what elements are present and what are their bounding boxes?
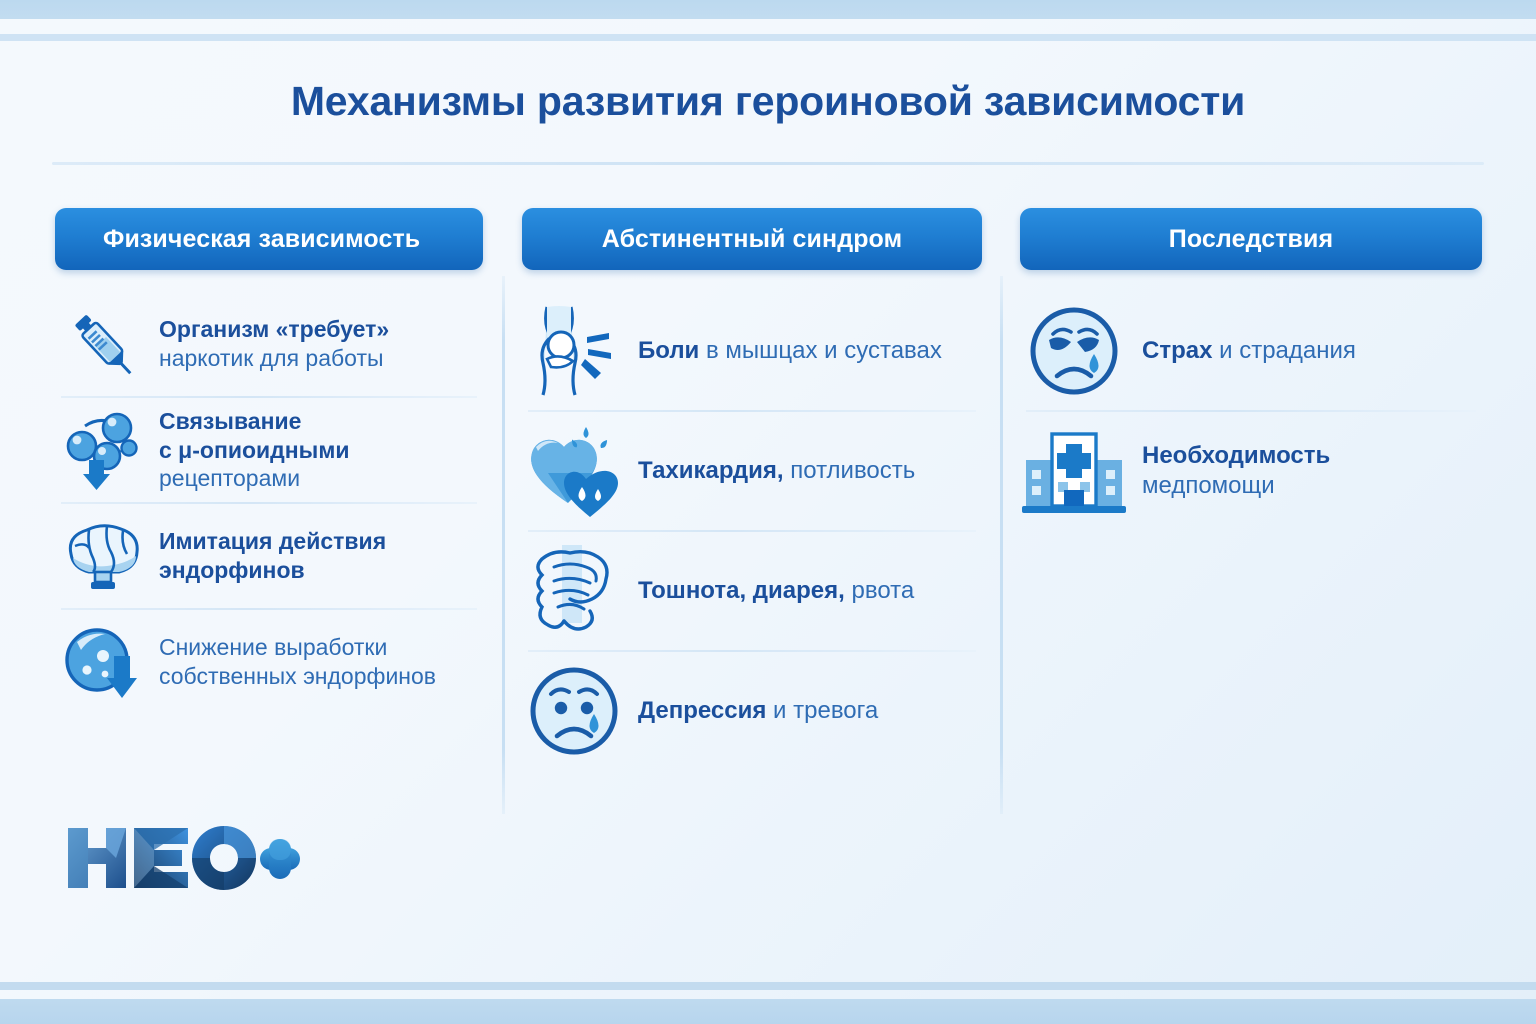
item-line: Тошнота, диарея,: [638, 577, 845, 604]
list-item-text: Тахикардия, потливость: [638, 456, 915, 486]
list-item-text: Страх и страдания: [1142, 336, 1356, 366]
column-separator-2: [1000, 276, 1003, 814]
item-line: собственных эндорфинов: [159, 663, 436, 689]
item-line: эндорфинов: [159, 557, 305, 583]
list-item[interactable]: Депрессия и тревога: [522, 652, 982, 770]
column-header-consequences[interactable]: Последствия: [1020, 208, 1482, 270]
list-item-text: Организм «требует» наркотик для работы: [159, 315, 389, 372]
item-line: Организм «требует»: [159, 316, 389, 342]
item-line: Связывание: [159, 408, 301, 434]
syringe-icon: [55, 298, 151, 390]
list-item[interactable]: Тошнота, диарея, рвота: [522, 532, 982, 650]
joint-pain-icon: [522, 301, 626, 401]
item-line-suffix: потливость: [784, 457, 916, 484]
list-item-text: Боли в мышцах и суставах: [638, 336, 942, 366]
item-line: Тахикардия,: [638, 457, 784, 484]
hospital-icon: [1020, 421, 1128, 521]
item-line: наркотик для работы: [159, 345, 384, 371]
list-item-text: Тошнота, диарея, рвота: [638, 576, 914, 606]
item-line: Страх: [1142, 337, 1212, 364]
bottom-decorative-band: [0, 999, 1536, 1024]
intestines-icon: [522, 541, 626, 641]
list-item-text: Имитация действия эндорфинов: [159, 527, 386, 584]
brain-icon: [55, 510, 151, 602]
items-list-withdrawal: Боли в мышцах и суставах: [522, 292, 982, 770]
item-line: рецепторами: [159, 465, 300, 491]
item-line: Депрессия: [638, 697, 766, 724]
column-header-label: Абстинентный синдром: [602, 225, 902, 254]
list-item-text: Депрессия и тревога: [638, 696, 878, 726]
item-line-suffix: рвота: [845, 577, 914, 604]
column-physical-dependence: Физическая зависимость: [55, 208, 483, 714]
items-list-physical: Организм «требует» наркотик для работы: [55, 292, 483, 714]
item-line: с μ-опиоидными: [159, 437, 349, 463]
columns-container: Физическая зависимость: [0, 208, 1536, 828]
list-item[interactable]: Тахикардия, потливость: [522, 412, 982, 530]
title-divider: [52, 162, 1484, 165]
heart-sweat-icon: [522, 421, 626, 521]
top-accent-line: [0, 34, 1536, 41]
column-consequences: Последствия: [1020, 208, 1482, 530]
item-line-suffix: в мышцах и суставах: [699, 337, 942, 364]
item-line-suffix: и тревога: [766, 697, 878, 724]
list-item[interactable]: Имитация действия эндорфинов: [55, 504, 483, 608]
list-item-text: Необходимость медпомощи: [1142, 441, 1330, 501]
item-line: Необходимость: [1142, 442, 1330, 469]
list-item[interactable]: Необходимость медпомощи: [1020, 412, 1482, 530]
bottom-accent-line: [0, 982, 1536, 990]
item-line: медпомощи: [1142, 472, 1275, 499]
sad-face-tear-icon: [522, 661, 626, 761]
column-header-label: Физическая зависимость: [103, 225, 420, 254]
column-header-label: Последствия: [1169, 225, 1333, 254]
item-line-suffix: и страдания: [1212, 337, 1355, 364]
item-line: Боли: [638, 337, 699, 364]
list-item[interactable]: Организм «требует» наркотик для работы: [55, 292, 483, 396]
list-item[interactable]: Боли в мышцах и суставах: [522, 292, 982, 410]
items-list-consequences: Страх и страдания: [1020, 292, 1482, 530]
page-title: Механизмы развития героиновой зависимост…: [0, 78, 1536, 125]
infographic-canvas: Механизмы развития героиновой зависимост…: [0, 0, 1536, 1024]
list-item[interactable]: Снижение выработки собственных эндорфино…: [55, 610, 483, 714]
column-header-physical[interactable]: Физическая зависимость: [55, 208, 483, 270]
list-item[interactable]: Страх и страдания: [1020, 292, 1482, 410]
column-separator-1: [502, 276, 505, 814]
list-item[interactable]: Связывание с μ-опиоидными рецепторами: [55, 398, 483, 502]
brand-logo[interactable]: [62, 820, 302, 896]
list-item-text: Снижение выработки собственных эндорфино…: [159, 633, 436, 690]
list-item-text: Связывание с μ-опиоидными рецепторами: [159, 407, 349, 493]
item-line: Снижение выработки: [159, 634, 387, 660]
suffering-face-icon: [1020, 301, 1128, 401]
cell-decrease-icon: [55, 616, 151, 708]
column-withdrawal-syndrome: Абстинентный синдром: [522, 208, 982, 770]
item-line: Имитация действия: [159, 528, 386, 554]
top-decorative-band: [0, 0, 1536, 19]
column-header-withdrawal[interactable]: Абстинентный синдром: [522, 208, 982, 270]
molecule-receptor-icon: [55, 404, 151, 496]
